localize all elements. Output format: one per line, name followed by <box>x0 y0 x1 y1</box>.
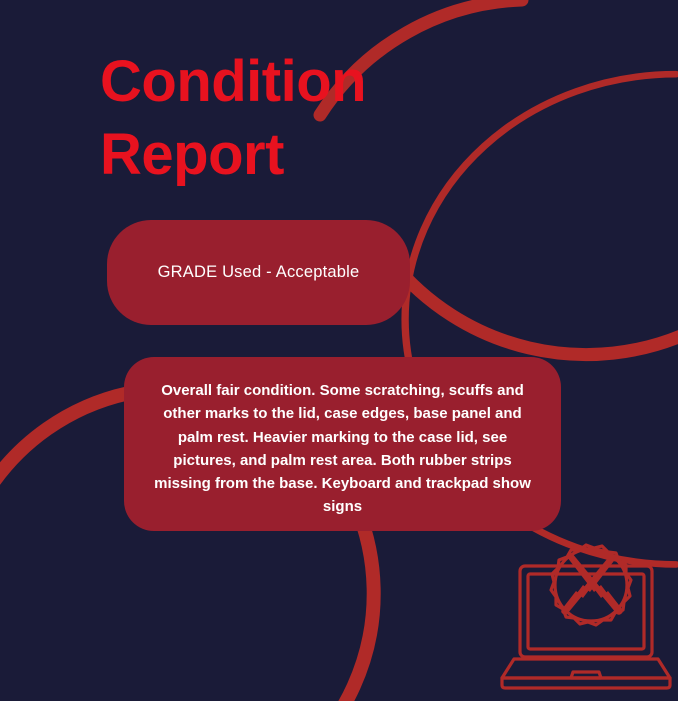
page-title: Condition Report <box>100 46 500 191</box>
grade-badge-text: GRADE Used - Acceptable <box>158 263 360 282</box>
laptop-trackpad <box>571 672 601 678</box>
condition-report-canvas: Condition Report GRADE Used - Acceptable… <box>0 0 678 701</box>
condition-description-card: Overall fair condition. Some scratching,… <box>124 357 561 531</box>
laptop-base <box>502 659 670 678</box>
condition-description-text: Overall fair condition. Some scratching,… <box>148 379 537 519</box>
crossed-screwdrivers <box>561 553 623 615</box>
grade-badge: GRADE Used - Acceptable <box>107 220 410 325</box>
laptop-gear-screwdrivers-icon <box>500 535 672 690</box>
